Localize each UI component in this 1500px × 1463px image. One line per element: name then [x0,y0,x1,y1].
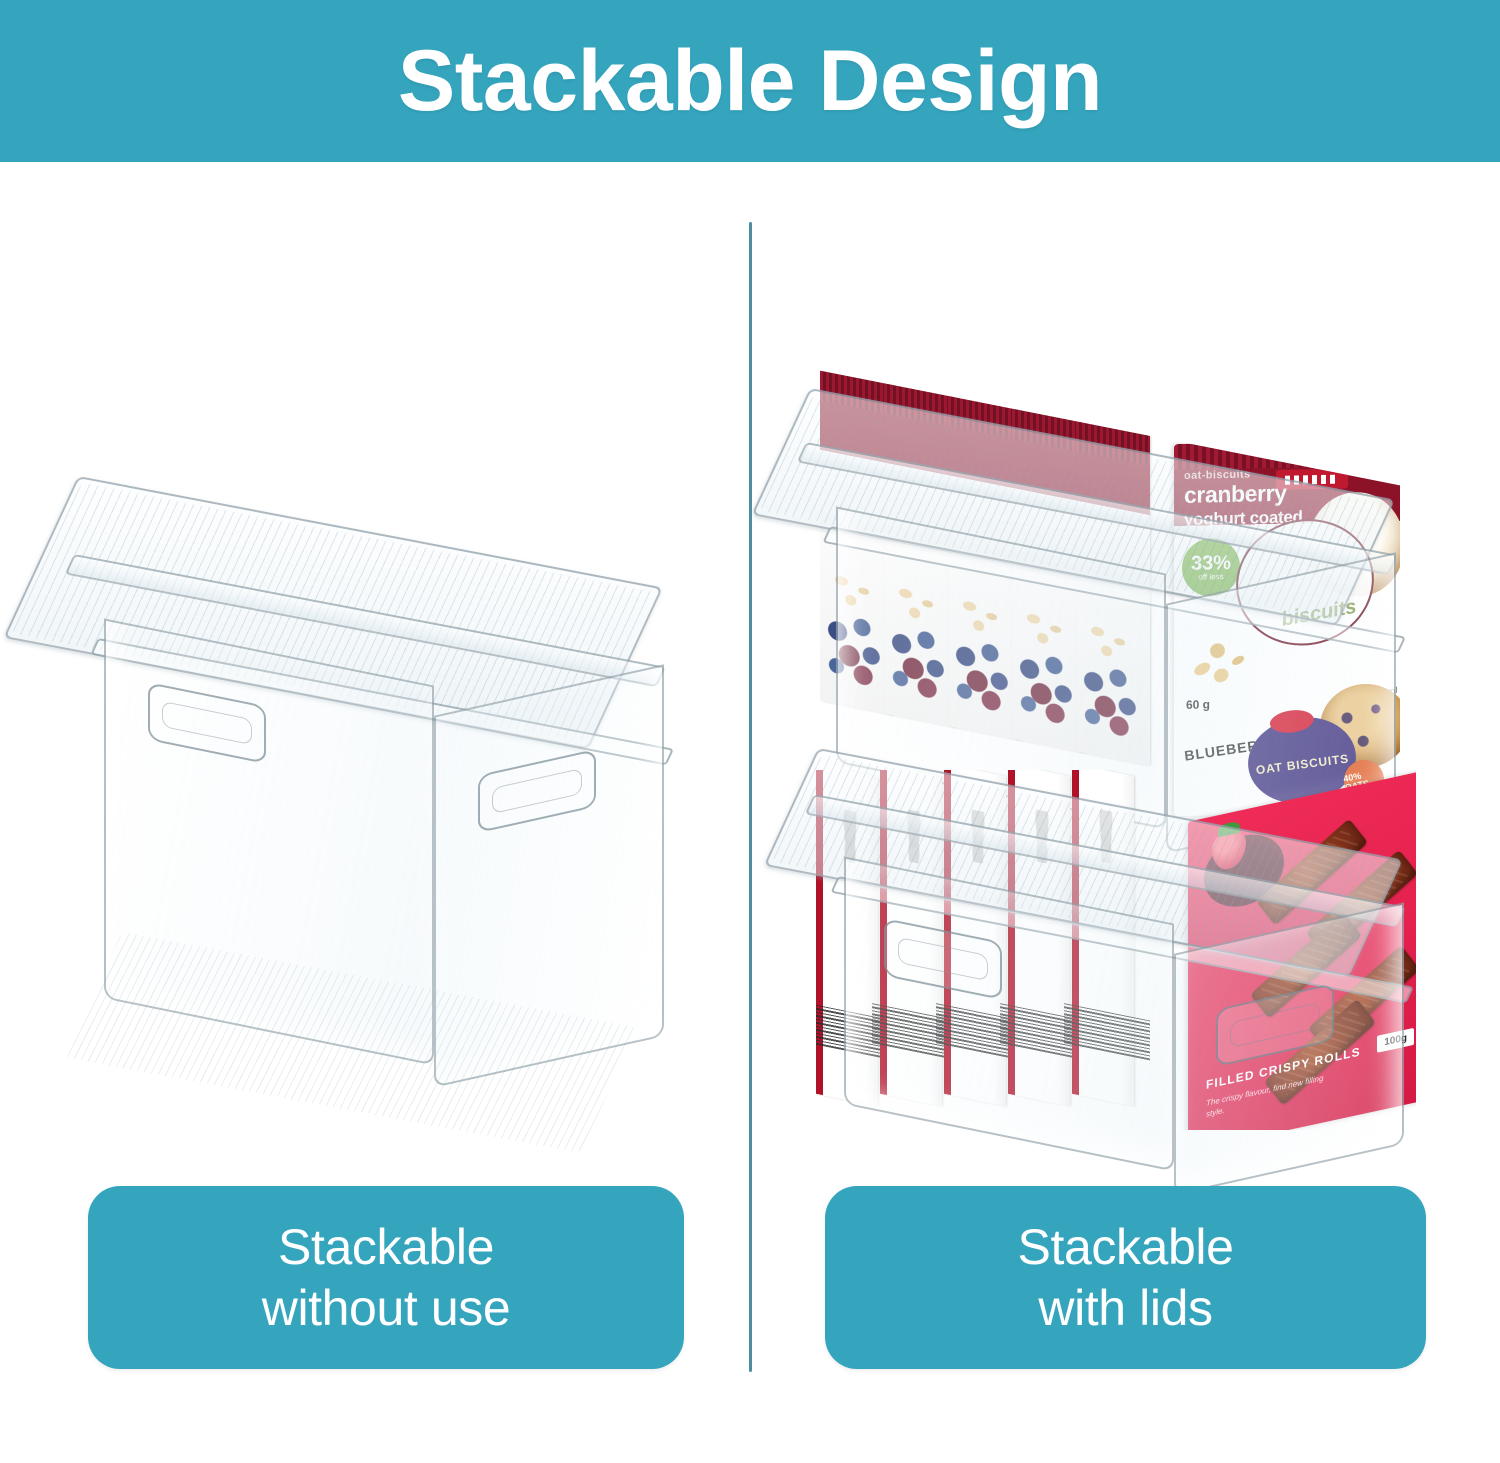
page-title: Stackable Design [398,38,1102,124]
caption-right-text: Stackable with lids [1018,1217,1234,1339]
caption-pill-left: Stackable without use [88,1186,684,1369]
caption-pill-right: Stackable with lids [825,1186,1426,1369]
clear-storage-bin [48,462,708,1112]
caption-left-text: Stackable without use [262,1217,511,1339]
stacked-bin-bottom: FILLED CRISPY ROLLS The crispy flavour, … [788,734,1448,1154]
header-banner: Stackable Design [0,0,1500,162]
new-flag-badge: NEW [1360,439,1400,459]
infographic-page: Stackable Design [0,0,1500,1463]
